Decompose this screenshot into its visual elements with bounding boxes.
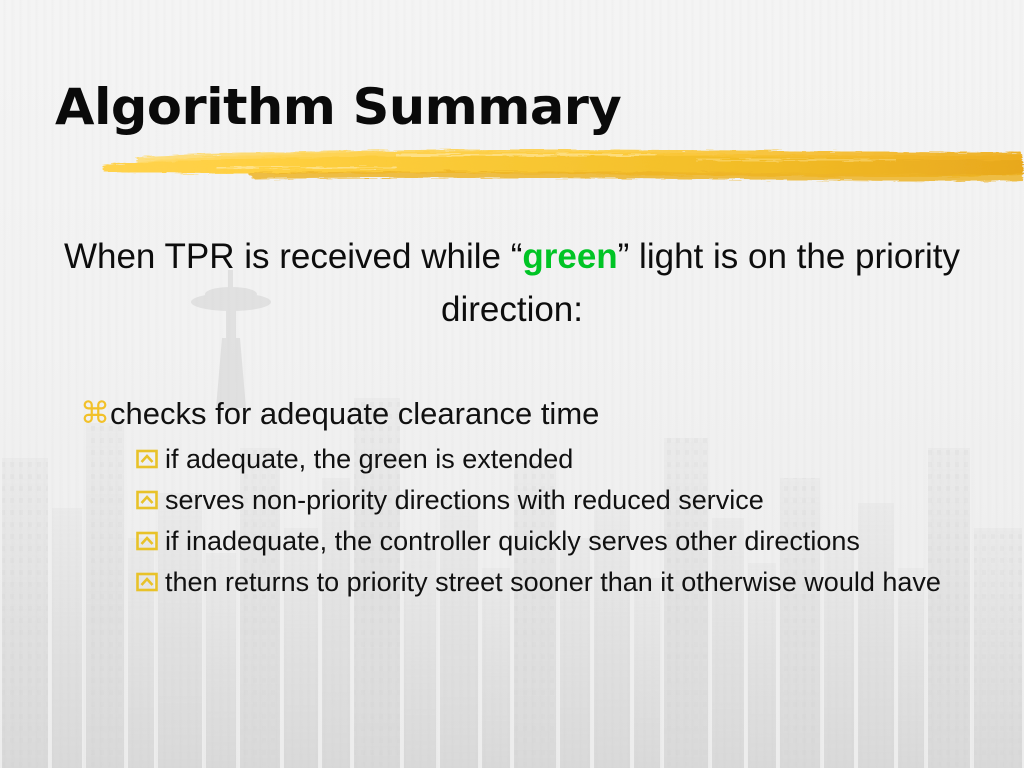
list-item-label: checks for adequate clearance time [110, 392, 980, 436]
list-item-label: if inadequate, the controller quickly se… [165, 522, 955, 561]
subtitle: When TPR is received while “green” light… [62, 230, 962, 336]
subtitle-highlight-green: green [522, 237, 617, 276]
list-item-label: then returns to priority street sooner t… [165, 563, 955, 602]
list-item-label: if adequate, the green is extended [165, 440, 955, 479]
box-chevron-bullet-icon [136, 563, 165, 592]
bullet-list: ⌘ checks for adequate clearance time if … [80, 392, 980, 604]
list-item-label: serves non-priority directions with redu… [165, 481, 955, 520]
list-item: ⌘ checks for adequate clearance time [80, 392, 980, 436]
list-item: if inadequate, the controller quickly se… [136, 522, 980, 561]
subtitle-part-1: When TPR is received while “ [64, 237, 522, 276]
command-bullet-icon: ⌘ [80, 392, 110, 436]
box-chevron-bullet-icon [136, 481, 165, 510]
list-item: then returns to priority street sooner t… [136, 563, 980, 602]
brush-stroke-divider [96, 143, 1024, 193]
box-chevron-bullet-icon [136, 440, 165, 469]
page-title: Algorithm Summary [55, 82, 621, 132]
list-item: if adequate, the green is extended [136, 440, 980, 479]
list-item: serves non-priority directions with redu… [136, 481, 980, 520]
presentation-slide: Algorithm Summary [0, 0, 1024, 768]
box-chevron-bullet-icon [136, 522, 165, 551]
